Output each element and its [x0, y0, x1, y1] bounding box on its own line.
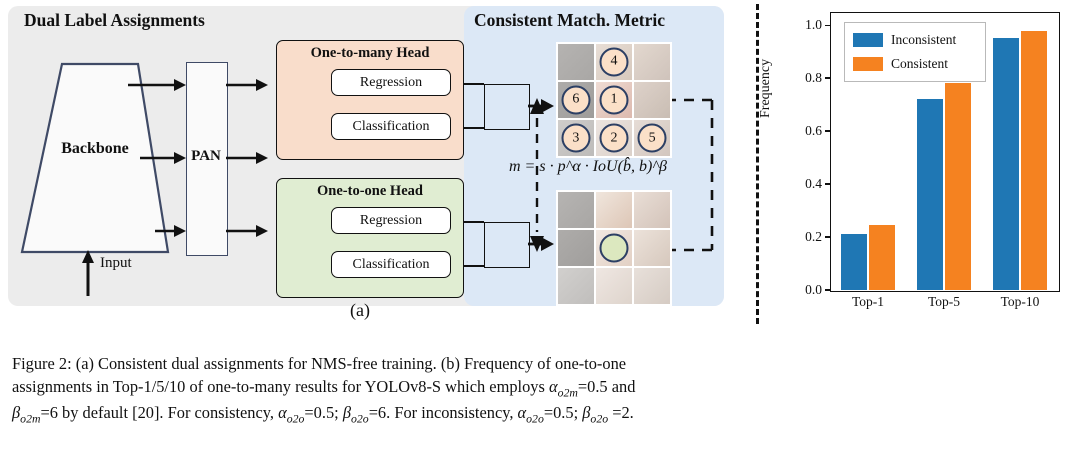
bar-inconsistent-top-10	[993, 38, 1019, 290]
grid-cell	[596, 192, 632, 228]
rank-circle: 2	[599, 124, 628, 153]
x-tick-label: Top-5	[928, 294, 960, 310]
one-to-many-merge-box	[484, 84, 530, 130]
backbone-trapezoid-icon	[20, 62, 170, 254]
y-tick-mark	[825, 183, 830, 184]
grid-cell: 3	[558, 120, 594, 156]
bar-consistent-top-10	[1021, 31, 1047, 290]
y-tick-label: 0.8	[782, 70, 822, 86]
y-tick-label: 0.6	[782, 123, 822, 139]
one-to-one-classification-box: Classification	[331, 251, 451, 278]
legend-label: Consistent	[891, 56, 948, 72]
one-to-many-head-box: One-to-many Head Regression Classificati…	[276, 40, 464, 160]
rank-circle: 5	[638, 124, 667, 153]
one-to-one-head-box: One-to-one Head Regression Classificatio…	[276, 178, 464, 298]
one-to-many-assignment-grid: 4 6 1 3 2 5	[556, 42, 672, 158]
grid-cell	[596, 230, 632, 266]
grid-cell: 2	[596, 120, 632, 156]
figure-root: Dual Label Assignments Consistent Match.…	[0, 0, 1080, 460]
y-tick-label: 1.0	[782, 17, 822, 33]
dual-label-assignments-title: Dual Label Assignments	[24, 10, 205, 31]
rank-circle: 4	[599, 47, 628, 76]
backbone-block: Backbone	[20, 62, 170, 254]
one-to-one-head-title: One-to-one Head	[277, 183, 463, 200]
rank-circle: 3	[561, 124, 590, 153]
legend-swatch-icon	[853, 33, 883, 47]
one-to-one-merge-box	[484, 222, 530, 268]
grid-cell	[558, 230, 594, 266]
legend-label: Inconsistent	[891, 32, 956, 48]
bar-inconsistent-top-1	[841, 234, 867, 290]
grid-cell	[558, 44, 594, 80]
panel-a-diagram: Dual Label Assignments Consistent Match.…	[0, 0, 742, 330]
grid-cell	[558, 268, 594, 304]
y-tick-mark	[825, 289, 830, 290]
grid-cell: 4	[596, 44, 632, 80]
bar-inconsistent-top-5	[917, 99, 943, 290]
match-metric-formula: m = s · p^α · IoU(b̂, b)^β	[498, 158, 678, 176]
rank-circle: 6	[561, 85, 590, 114]
x-tick-label: Top-10	[1001, 294, 1040, 310]
legend-item-consistent[interactable]: Consistent	[853, 55, 948, 73]
one-to-many-regression-box: Regression	[331, 69, 451, 96]
y-tick-mark	[825, 25, 830, 26]
panel-separator	[756, 4, 759, 324]
y-tick-label: 0.0	[782, 282, 822, 298]
x-tick-label: Top-1	[852, 294, 884, 310]
selected-assignment-circle	[599, 233, 628, 262]
panel-b-barchart: Frequency 0.00.20.40.60.81.0 Top-1Top-5T…	[772, 8, 1072, 308]
chart-legend: InconsistentConsistent	[844, 22, 986, 82]
y-tick-label: 0.4	[782, 176, 822, 192]
y-tick-mark	[825, 236, 830, 237]
grid-cell	[634, 192, 670, 228]
rank-circle: 1	[599, 85, 628, 114]
grid-cell	[634, 44, 670, 80]
pan-label: PAN	[186, 148, 226, 165]
input-label: Input	[100, 255, 132, 272]
y-tick-mark	[825, 130, 830, 131]
grid-cell	[558, 192, 594, 228]
panel-a-label: (a)	[350, 300, 370, 321]
legend-swatch-icon	[853, 57, 883, 71]
grid-cell: 5	[634, 120, 670, 156]
grid-cell: 1	[596, 82, 632, 118]
legend-item-inconsistent[interactable]: Inconsistent	[853, 31, 956, 49]
consistent-match-metric-title: Consistent Match. Metric	[474, 10, 665, 31]
figure-caption: Figure 2: (a) Consistent dual assignment…	[12, 352, 1070, 427]
grid-cell: 6	[558, 82, 594, 118]
y-tick-mark	[825, 77, 830, 78]
bar-consistent-top-1	[869, 225, 895, 290]
one-to-one-regression-box: Regression	[331, 207, 451, 234]
grid-cell	[634, 230, 670, 266]
grid-cell	[634, 82, 670, 118]
backbone-label: Backbone	[20, 140, 170, 158]
y-tick-label: 0.2	[782, 229, 822, 245]
grid-cell	[634, 268, 670, 304]
one-to-many-head-title: One-to-many Head	[277, 45, 463, 62]
bar-consistent-top-5	[945, 83, 971, 290]
one-to-one-assignment-grid	[556, 190, 672, 306]
grid-cell	[596, 268, 632, 304]
chart-y-axis-label: Frequency	[758, 59, 774, 118]
one-to-many-classification-box: Classification	[331, 113, 451, 140]
